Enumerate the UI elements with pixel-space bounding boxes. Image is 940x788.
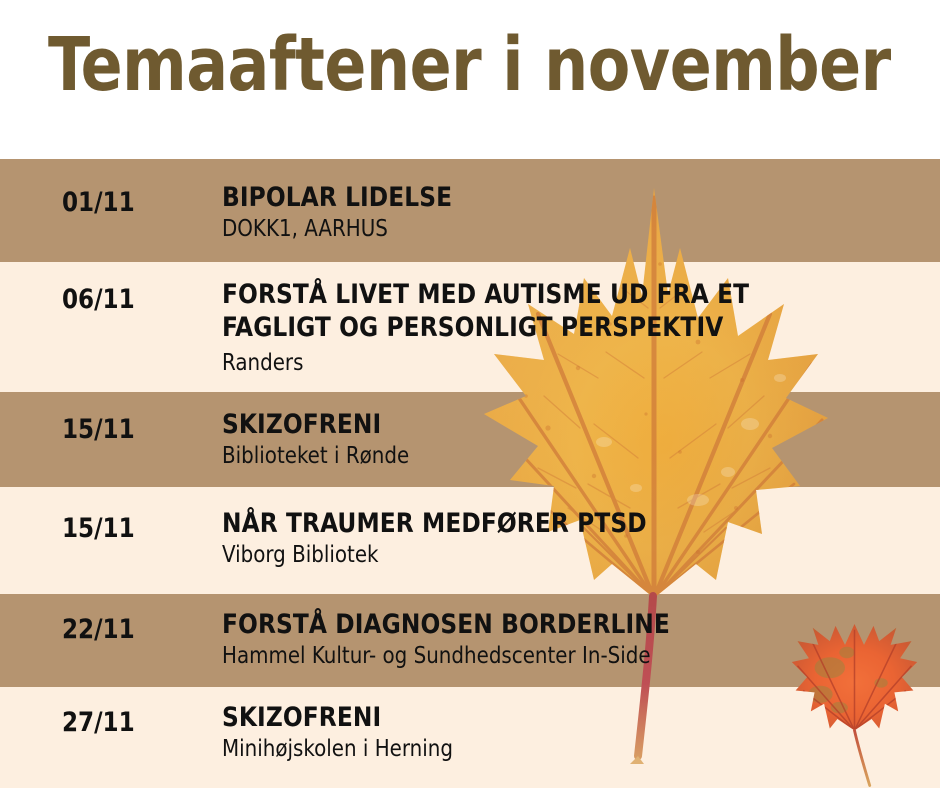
- event-date: 15/11: [62, 414, 135, 445]
- title-band: Temaaftener i november: [0, 0, 940, 159]
- event-details: SKIZOFRENI Biblioteket i Rønde: [222, 408, 922, 471]
- event-row-5: 22/11 FORSTÅ DIAGNOSEN BORDERLINE Hammel…: [0, 594, 940, 687]
- page-title: Temaaftener i november: [48, 28, 891, 102]
- event-title: SKIZOFRENI: [222, 701, 894, 734]
- event-place: Biblioteket i Rønde: [222, 441, 894, 471]
- event-details: FORSTÅ DIAGNOSEN BORDERLINE Hammel Kultu…: [222, 608, 922, 671]
- event-place: Randers: [222, 348, 894, 378]
- event-row-3: 15/11 SKIZOFRENI Biblioteket i Rønde: [0, 392, 940, 487]
- event-date: 15/11: [62, 513, 135, 544]
- event-date: 06/11: [62, 284, 135, 315]
- event-row-1: 01/11 BIPOLAR LIDELSE DOKK1, AARHUS: [0, 159, 940, 262]
- event-place: DOKK1, AARHUS: [222, 214, 894, 244]
- event-title: FORSTÅ LIVET MED AUTISME UD FRA ET FAGLI…: [222, 278, 808, 344]
- event-row-2: 06/11 FORSTÅ LIVET MED AUTISME UD FRA ET…: [0, 262, 940, 392]
- event-place: Hammel Kultur- og Sundhedscenter In-Side: [222, 641, 894, 671]
- event-date: 01/11: [62, 187, 135, 218]
- event-title: BIPOLAR LIDELSE: [222, 181, 894, 214]
- event-details: SKIZOFRENI Minihøjskolen i Herning: [222, 701, 922, 764]
- poster-canvas: Temaaftener i november 01/11 BIPOLAR LID…: [0, 0, 940, 788]
- event-title: FORSTÅ DIAGNOSEN BORDERLINE: [222, 608, 894, 641]
- event-details: NÅR TRAUMER MEDFØRER PTSD Viborg Bibliot…: [222, 507, 922, 570]
- event-details: BIPOLAR LIDELSE DOKK1, AARHUS: [222, 181, 922, 244]
- event-row-4: 15/11 NÅR TRAUMER MEDFØRER PTSD Viborg B…: [0, 487, 940, 594]
- event-details: FORSTÅ LIVET MED AUTISME UD FRA ET FAGLI…: [222, 278, 922, 378]
- event-place: Minihøjskolen i Herning: [222, 734, 894, 764]
- event-place: Viborg Bibliotek: [222, 540, 894, 570]
- event-row-6: 27/11 SKIZOFRENI Minihøjskolen i Herning: [0, 687, 940, 788]
- event-date: 22/11: [62, 614, 135, 645]
- event-title: NÅR TRAUMER MEDFØRER PTSD: [222, 507, 894, 540]
- event-date: 27/11: [62, 707, 135, 738]
- event-title: SKIZOFRENI: [222, 408, 894, 441]
